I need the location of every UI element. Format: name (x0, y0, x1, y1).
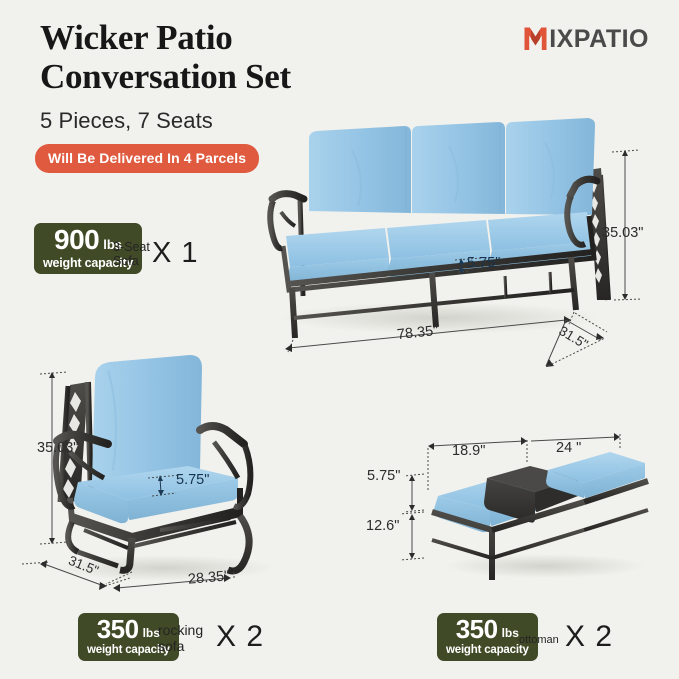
rocking-sofa-illustration (22, 355, 275, 592)
sofa-illustration (270, 118, 642, 367)
ottoman-dim-width: 18.9" (452, 443, 485, 459)
logo-m-mark (523, 26, 548, 52)
ottoman-dim-height: 12.6" (366, 518, 399, 534)
sofa-piece-name: 3-Seat Sofa (113, 241, 150, 269)
rocking-sofa-capacity-value: 350 (97, 616, 139, 642)
sofa-quantity: X 1 (152, 237, 199, 270)
rocking-sofa-piece-name-line1: rocking (158, 622, 203, 638)
sofa-piece-name-line1: 3-Seat (113, 240, 150, 254)
sofa-back-cushions (309, 118, 595, 215)
rocking-sofa-piece-name-line2: sofa (158, 638, 184, 654)
page-subtitle: 5 Pieces, 7 Seats (40, 108, 213, 134)
sofa-dim-height: 35.03" (602, 225, 643, 241)
ottoman-capacity-value: 350 (456, 616, 498, 642)
rocking-sofa-dim-height: 35.03" (37, 440, 78, 456)
sofa-dim-cushion: 5.75" (467, 255, 500, 271)
page-title-line2: Conversation Set (40, 57, 460, 96)
rocking-sofa-back-cushion (92, 355, 202, 480)
rocking-sofa-quantity: X 2 (216, 620, 264, 654)
page-title: Wicker Patio Conversation Set (40, 18, 460, 96)
delivery-badge: Will Be Delivered In 4 Parcels (35, 144, 259, 173)
ottoman-dim-depth: 24 " (556, 440, 581, 456)
page-title-line1: Wicker Patio (40, 18, 232, 57)
rocking-sofa-piece-name: rocking sofa (158, 622, 203, 654)
ottoman-capacity-label: weight capacity (446, 645, 529, 657)
ottoman-dim-cushion: 5.75" (367, 468, 400, 484)
sofa-capacity-value: 900 (54, 226, 99, 254)
logo-wordmark: IXPATIO (549, 26, 649, 52)
rocking-sofa-dim-cushion: 5.75" (176, 472, 209, 488)
brand-logo: IXPATIO (523, 26, 649, 52)
ottoman-piece-name: ottoman (519, 634, 559, 646)
sofa-piece-name-line2: Sofa (113, 254, 139, 268)
ottoman-quantity: X 2 (565, 620, 613, 654)
ottoman-capacity-unit: lbs (502, 627, 519, 642)
ottoman-illustration (400, 433, 648, 580)
